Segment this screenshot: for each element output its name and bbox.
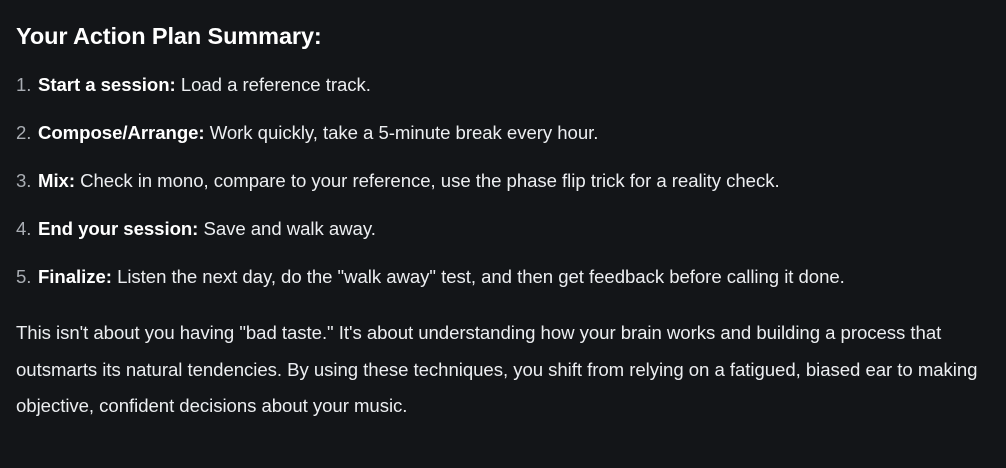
page-title: Your Action Plan Summary:	[16, 0, 990, 50]
list-item: 5.Finalize: Listen the next day, do the …	[16, 263, 990, 290]
list-item-label: Compose/Arrange:	[38, 122, 205, 143]
list-item-text: Save and walk away.	[203, 218, 375, 239]
list-item: 1.Start a session: Load a reference trac…	[16, 71, 990, 98]
list-item: 3.Mix: Check in mono, compare to your re…	[16, 167, 990, 194]
list-item-number: 5.	[16, 263, 31, 290]
list-item-label: Start a session:	[38, 74, 176, 95]
list-item: 4.End your session: Save and walk away.	[16, 215, 990, 242]
list-item-label: Finalize:	[38, 266, 112, 287]
list-item-text: Check in mono, compare to your reference…	[80, 170, 779, 191]
action-plan-list: 1.Start a session: Load a reference trac…	[16, 50, 990, 290]
list-item-label: Mix:	[38, 170, 75, 191]
list-item-label: End your session:	[38, 218, 198, 239]
list-item-text: Load a reference track.	[181, 74, 371, 95]
closing-paragraph: This isn't about you having "bad taste."…	[16, 290, 988, 425]
list-item-text: Listen the next day, do the "walk away" …	[117, 266, 845, 287]
list-item-text: Work quickly, take a 5-minute break ever…	[210, 122, 599, 143]
list-item: 2.Compose/Arrange: Work quickly, take a …	[16, 119, 990, 146]
list-item-number: 2.	[16, 119, 31, 146]
assistant-response-panel: Your Action Plan Summary: 1.Start a sess…	[0, 0, 1006, 468]
list-item-number: 4.	[16, 215, 31, 242]
list-item-number: 3.	[16, 167, 31, 194]
list-item-number: 1.	[16, 71, 31, 98]
content-container: Your Action Plan Summary: 1.Start a sess…	[0, 0, 1006, 425]
